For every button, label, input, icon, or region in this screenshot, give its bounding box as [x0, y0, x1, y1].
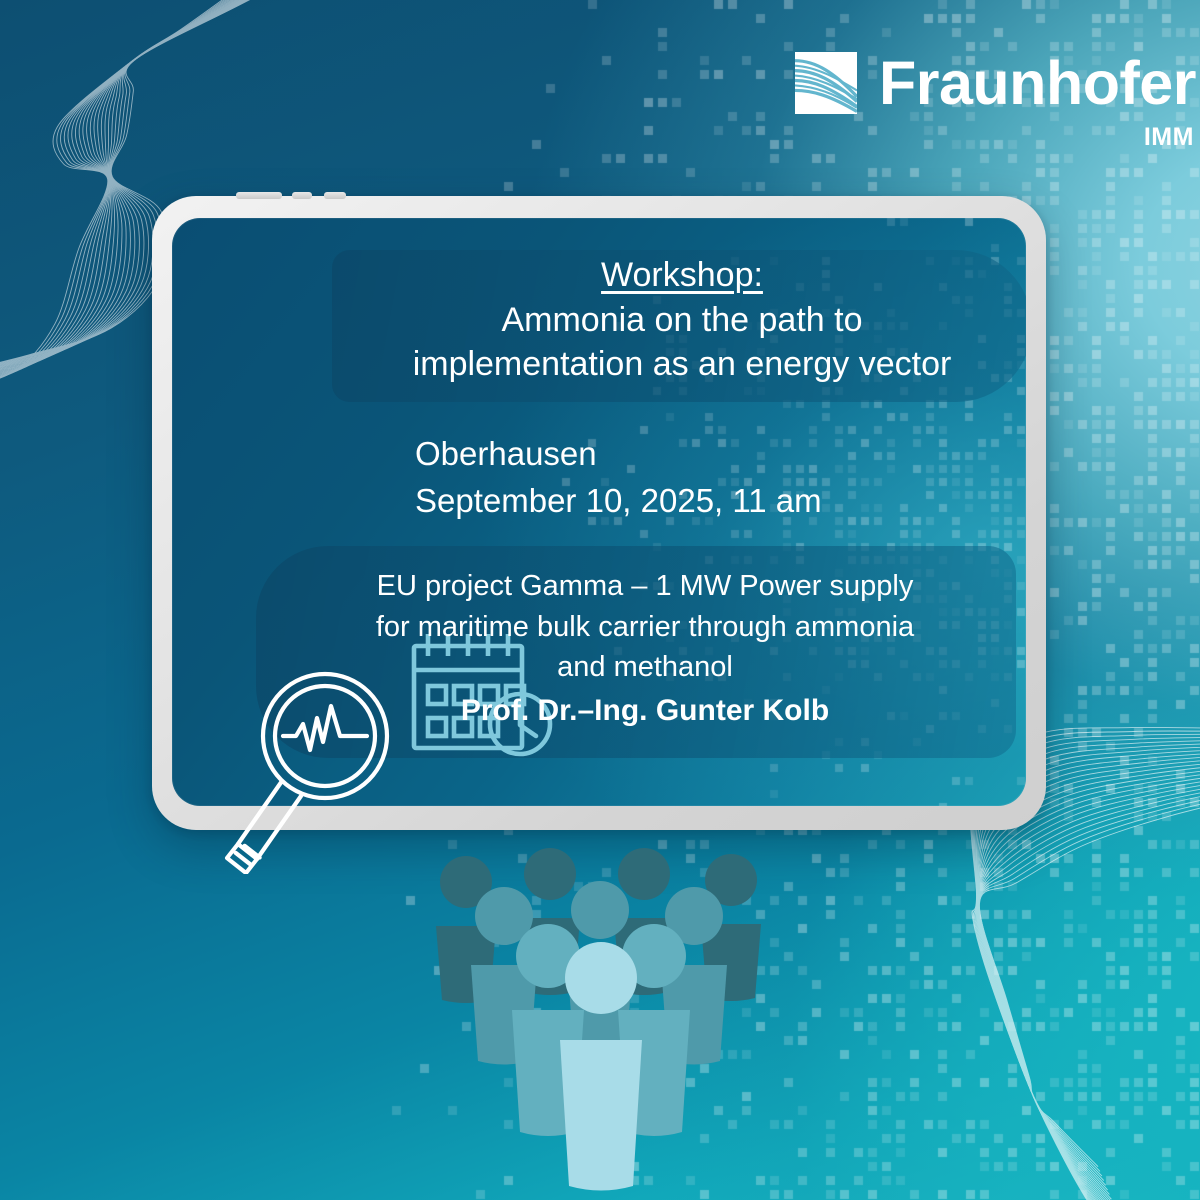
talk-line2: for maritime bulk carrier through ammoni…	[282, 607, 1008, 648]
fraunhofer-stripes-icon	[795, 52, 857, 114]
workshop-title-line1: Ammonia on the path to	[292, 298, 1026, 343]
workshop-title-line2: implementation as an energy vector	[292, 342, 1026, 387]
event-datetime: September 10, 2025, 11 am	[415, 478, 822, 525]
device-button	[236, 192, 282, 199]
event-location: Oberhausen	[415, 431, 822, 478]
device-button	[324, 192, 346, 199]
device-button	[292, 192, 312, 199]
fraunhofer-logo: Fraunhofer IMM	[795, 52, 1196, 152]
event-details-block: Oberhausen September 10, 2025, 11 am	[415, 431, 822, 525]
logo-institute: IMM	[1144, 123, 1194, 152]
magnifier-waveform-icon	[222, 662, 402, 874]
poster-canvas: Fraunhofer IMM Workshop: Ammonia on the …	[0, 0, 1200, 1200]
workshop-title-block: Workshop: Ammonia on the path to impleme…	[292, 254, 1026, 387]
people-group-icon	[428, 848, 776, 1200]
logo-wordmark: Fraunhofer	[879, 53, 1196, 114]
talk-line1: EU project Gamma – 1 MW Power supply	[282, 566, 1008, 607]
workshop-label: Workshop:	[292, 254, 1026, 298]
